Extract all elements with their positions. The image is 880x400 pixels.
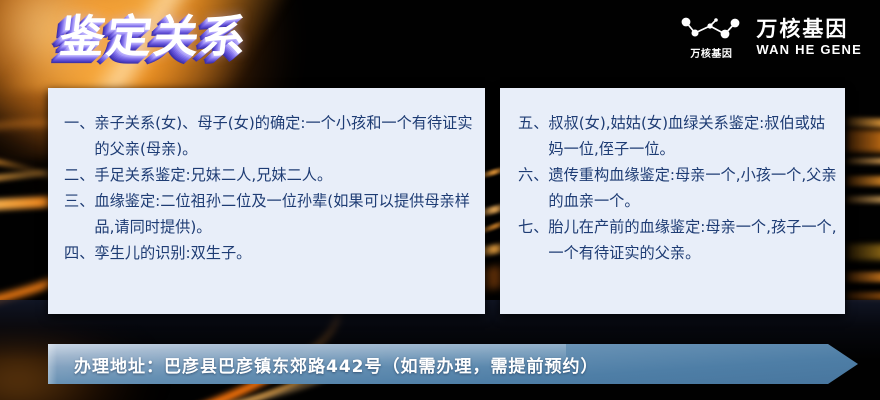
list-item: 三、 血缘鉴定:二位祖孙二位及一位孙辈(如果可以提供母亲样品,请同时提供)。 — [64, 188, 477, 240]
list-item-text: 血缘鉴定:二位祖孙二位及一位孙辈(如果可以提供母亲样品,请同时提供)。 — [94, 188, 477, 240]
list-item-text: 孪生儿的识别:双生子。 — [94, 240, 477, 266]
molecule-icon — [680, 17, 742, 43]
logo-name-cn: 万核基因 — [756, 18, 848, 41]
list-item: 六、 遗传重构血缘鉴定:母亲一个,小孩一个,父亲的血亲一个。 — [518, 162, 839, 214]
list-item-number: 四、 — [64, 240, 94, 266]
list-item: 二、 手足关系鉴定:兄妹二人,兄妹二人。 — [64, 162, 477, 188]
content-panel-left: 一、 亲子关系(女)、母子(女)的确定:一个小孩和一个有待证实的父亲(母亲)。 … — [48, 88, 485, 314]
list-item: 一、 亲子关系(女)、母子(女)的确定:一个小孩和一个有待证实的父亲(母亲)。 — [64, 110, 477, 162]
banner-left-edge — [48, 344, 57, 384]
logo-name-en: WAN HE GENE — [756, 42, 862, 59]
background-right-streak-2 — [846, 130, 880, 153]
brand-logo: 万核基因 万核基因 WAN HE GENE — [680, 17, 862, 60]
list-item-number: 一、 — [64, 110, 94, 162]
address-banner: 办理地址：巴彦县巴彦镇东郊路442号（如需办理，需提前预约） — [48, 344, 858, 384]
list-item-number: 六、 — [518, 162, 548, 214]
list-item-number: 五、 — [518, 110, 548, 162]
background-right-streak-8 — [846, 292, 880, 300]
background-right-streak-5 — [846, 196, 880, 203]
logo-mark-caption: 万核基因 — [690, 45, 732, 60]
logo-wordmark: 万核基因 WAN HE GENE — [756, 18, 862, 59]
list-item-number: 二、 — [64, 162, 94, 188]
background-right-streak-3 — [846, 158, 880, 164]
background-right-streak-1 — [846, 117, 880, 128]
page-title: 鉴定关系 — [57, 9, 252, 65]
list-item-text: 手足关系鉴定:兄妹二人,兄妹二人。 — [94, 162, 477, 188]
slide-canvas: 鉴定关系 — [0, 0, 880, 400]
list-item-text: 叔叔(女),姑姑(女)血绿关系鉴定:叔伯或姑妈一位,侄子一位。 — [548, 110, 839, 162]
logo-mark: 万核基因 — [680, 17, 742, 60]
list-item-text: 遗传重构血缘鉴定:母亲一个,小孩一个,父亲的血亲一个。 — [548, 162, 839, 214]
list-item: 七、 胎儿在产前的血缘鉴定:母亲一个,孩子一个,一个有待证实的父亲。 — [518, 214, 839, 266]
list-item-text: 亲子关系(女)、母子(女)的确定:一个小孩和一个有待证实的父亲(母亲)。 — [94, 110, 477, 162]
list-item-text: 胎儿在产前的血缘鉴定:母亲一个,孩子一个,一个有待证实的父亲。 — [548, 214, 839, 266]
content-panel-right: 五、 叔叔(女),姑姑(女)血绿关系鉴定:叔伯或姑妈一位,侄子一位。 六、 遗传… — [500, 88, 845, 314]
background-right-streak-7 — [846, 272, 880, 282]
background-right-streak-6 — [846, 244, 880, 260]
list-item: 五、 叔叔(女),姑姑(女)血绿关系鉴定:叔伯或姑妈一位,侄子一位。 — [518, 110, 839, 162]
list-item-number: 三、 — [64, 188, 94, 240]
list-item-number: 七、 — [518, 214, 548, 266]
address-banner-text: 办理地址：巴彦县巴彦镇东郊路442号（如需办理，需提前预约） — [74, 352, 599, 377]
list-item: 四、 孪生儿的识别:双生子。 — [64, 240, 477, 266]
background-right-streak-4 — [846, 176, 880, 186]
